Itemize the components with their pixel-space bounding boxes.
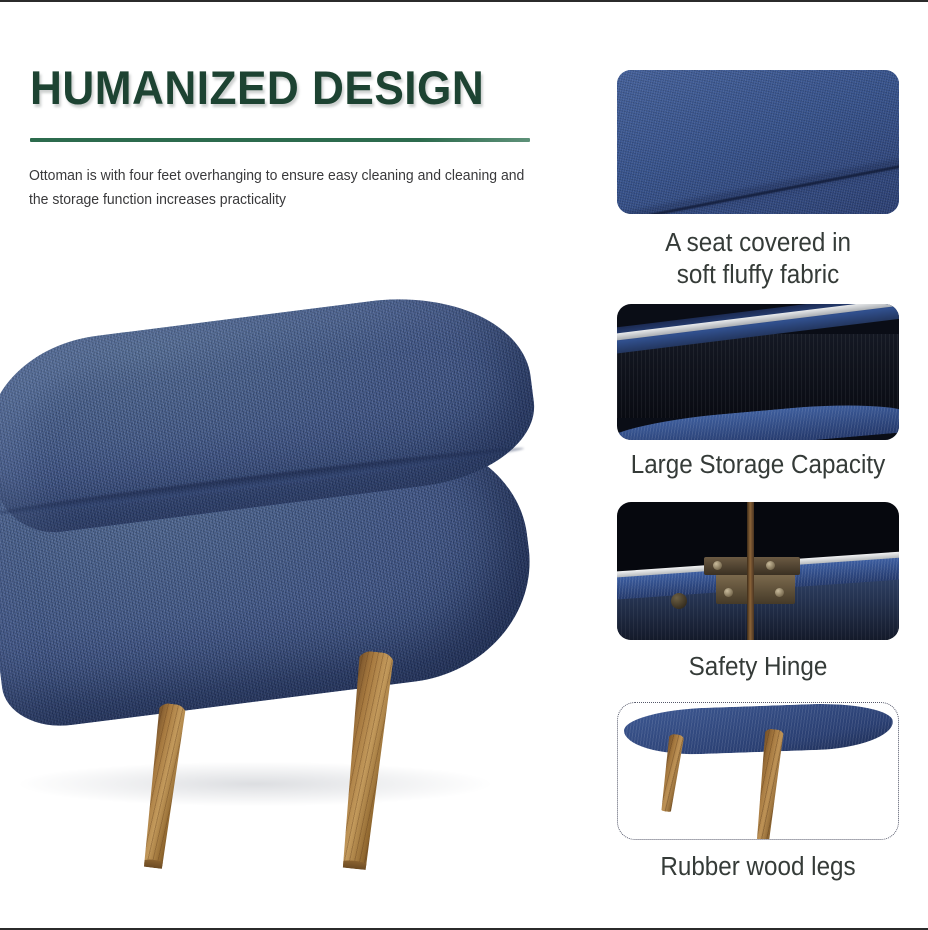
feature-caption-line-1: Large Storage Capacity xyxy=(606,450,910,482)
fabric-closeup-icon xyxy=(617,70,899,214)
feature-item-storage: Large Storage Capacity xyxy=(588,304,928,482)
title-underline-rule xyxy=(30,138,530,142)
hinge-screw xyxy=(724,588,733,597)
feature-item-legs: Rubber wood legs xyxy=(588,702,928,884)
feature-caption-line-1: A seat covered in xyxy=(606,228,910,260)
left-column: HUMANIZED DESIGN Ottoman is with four fe… xyxy=(0,2,588,930)
feature-caption: Rubber wood legs xyxy=(606,840,910,884)
feature-caption-line-1: Rubber wood legs xyxy=(606,852,910,884)
hinge-screw xyxy=(775,588,784,597)
hinge-support-rod xyxy=(747,502,754,640)
description-text: Ottoman is with four feet overhanging to… xyxy=(29,165,524,212)
hero-product-image xyxy=(0,332,565,892)
wood-legs-icon xyxy=(617,702,899,840)
feature-caption-line-1: Safety Hinge xyxy=(606,652,910,684)
feature-item-fabric: A seat covered in soft fluffy fabric xyxy=(588,70,928,291)
hero-ground-shadow xyxy=(20,762,490,806)
feature-item-hinge: Safety Hinge xyxy=(588,502,928,684)
product-infographic-poster: HUMANIZED DESIGN Ottoman is with four fe… xyxy=(0,0,928,930)
feature-caption: Large Storage Capacity xyxy=(606,440,910,482)
page-title: HUMANIZED DESIGN xyxy=(30,64,484,113)
feature-panel-column: A seat covered in soft fluffy fabric Lar… xyxy=(588,2,928,930)
ottoman-underside xyxy=(623,703,893,756)
feature-caption-line-2: soft fluffy fabric xyxy=(606,260,910,292)
feature-caption: A seat covered in soft fluffy fabric xyxy=(606,214,910,291)
storage-interior-icon xyxy=(617,304,899,440)
hinge-closeup-icon xyxy=(617,502,899,640)
legs-photo xyxy=(618,703,898,839)
hinge-bolt xyxy=(671,593,687,609)
feature-caption: Safety Hinge xyxy=(606,640,910,684)
storage-photo xyxy=(617,304,899,440)
hinge-photo xyxy=(617,502,899,640)
